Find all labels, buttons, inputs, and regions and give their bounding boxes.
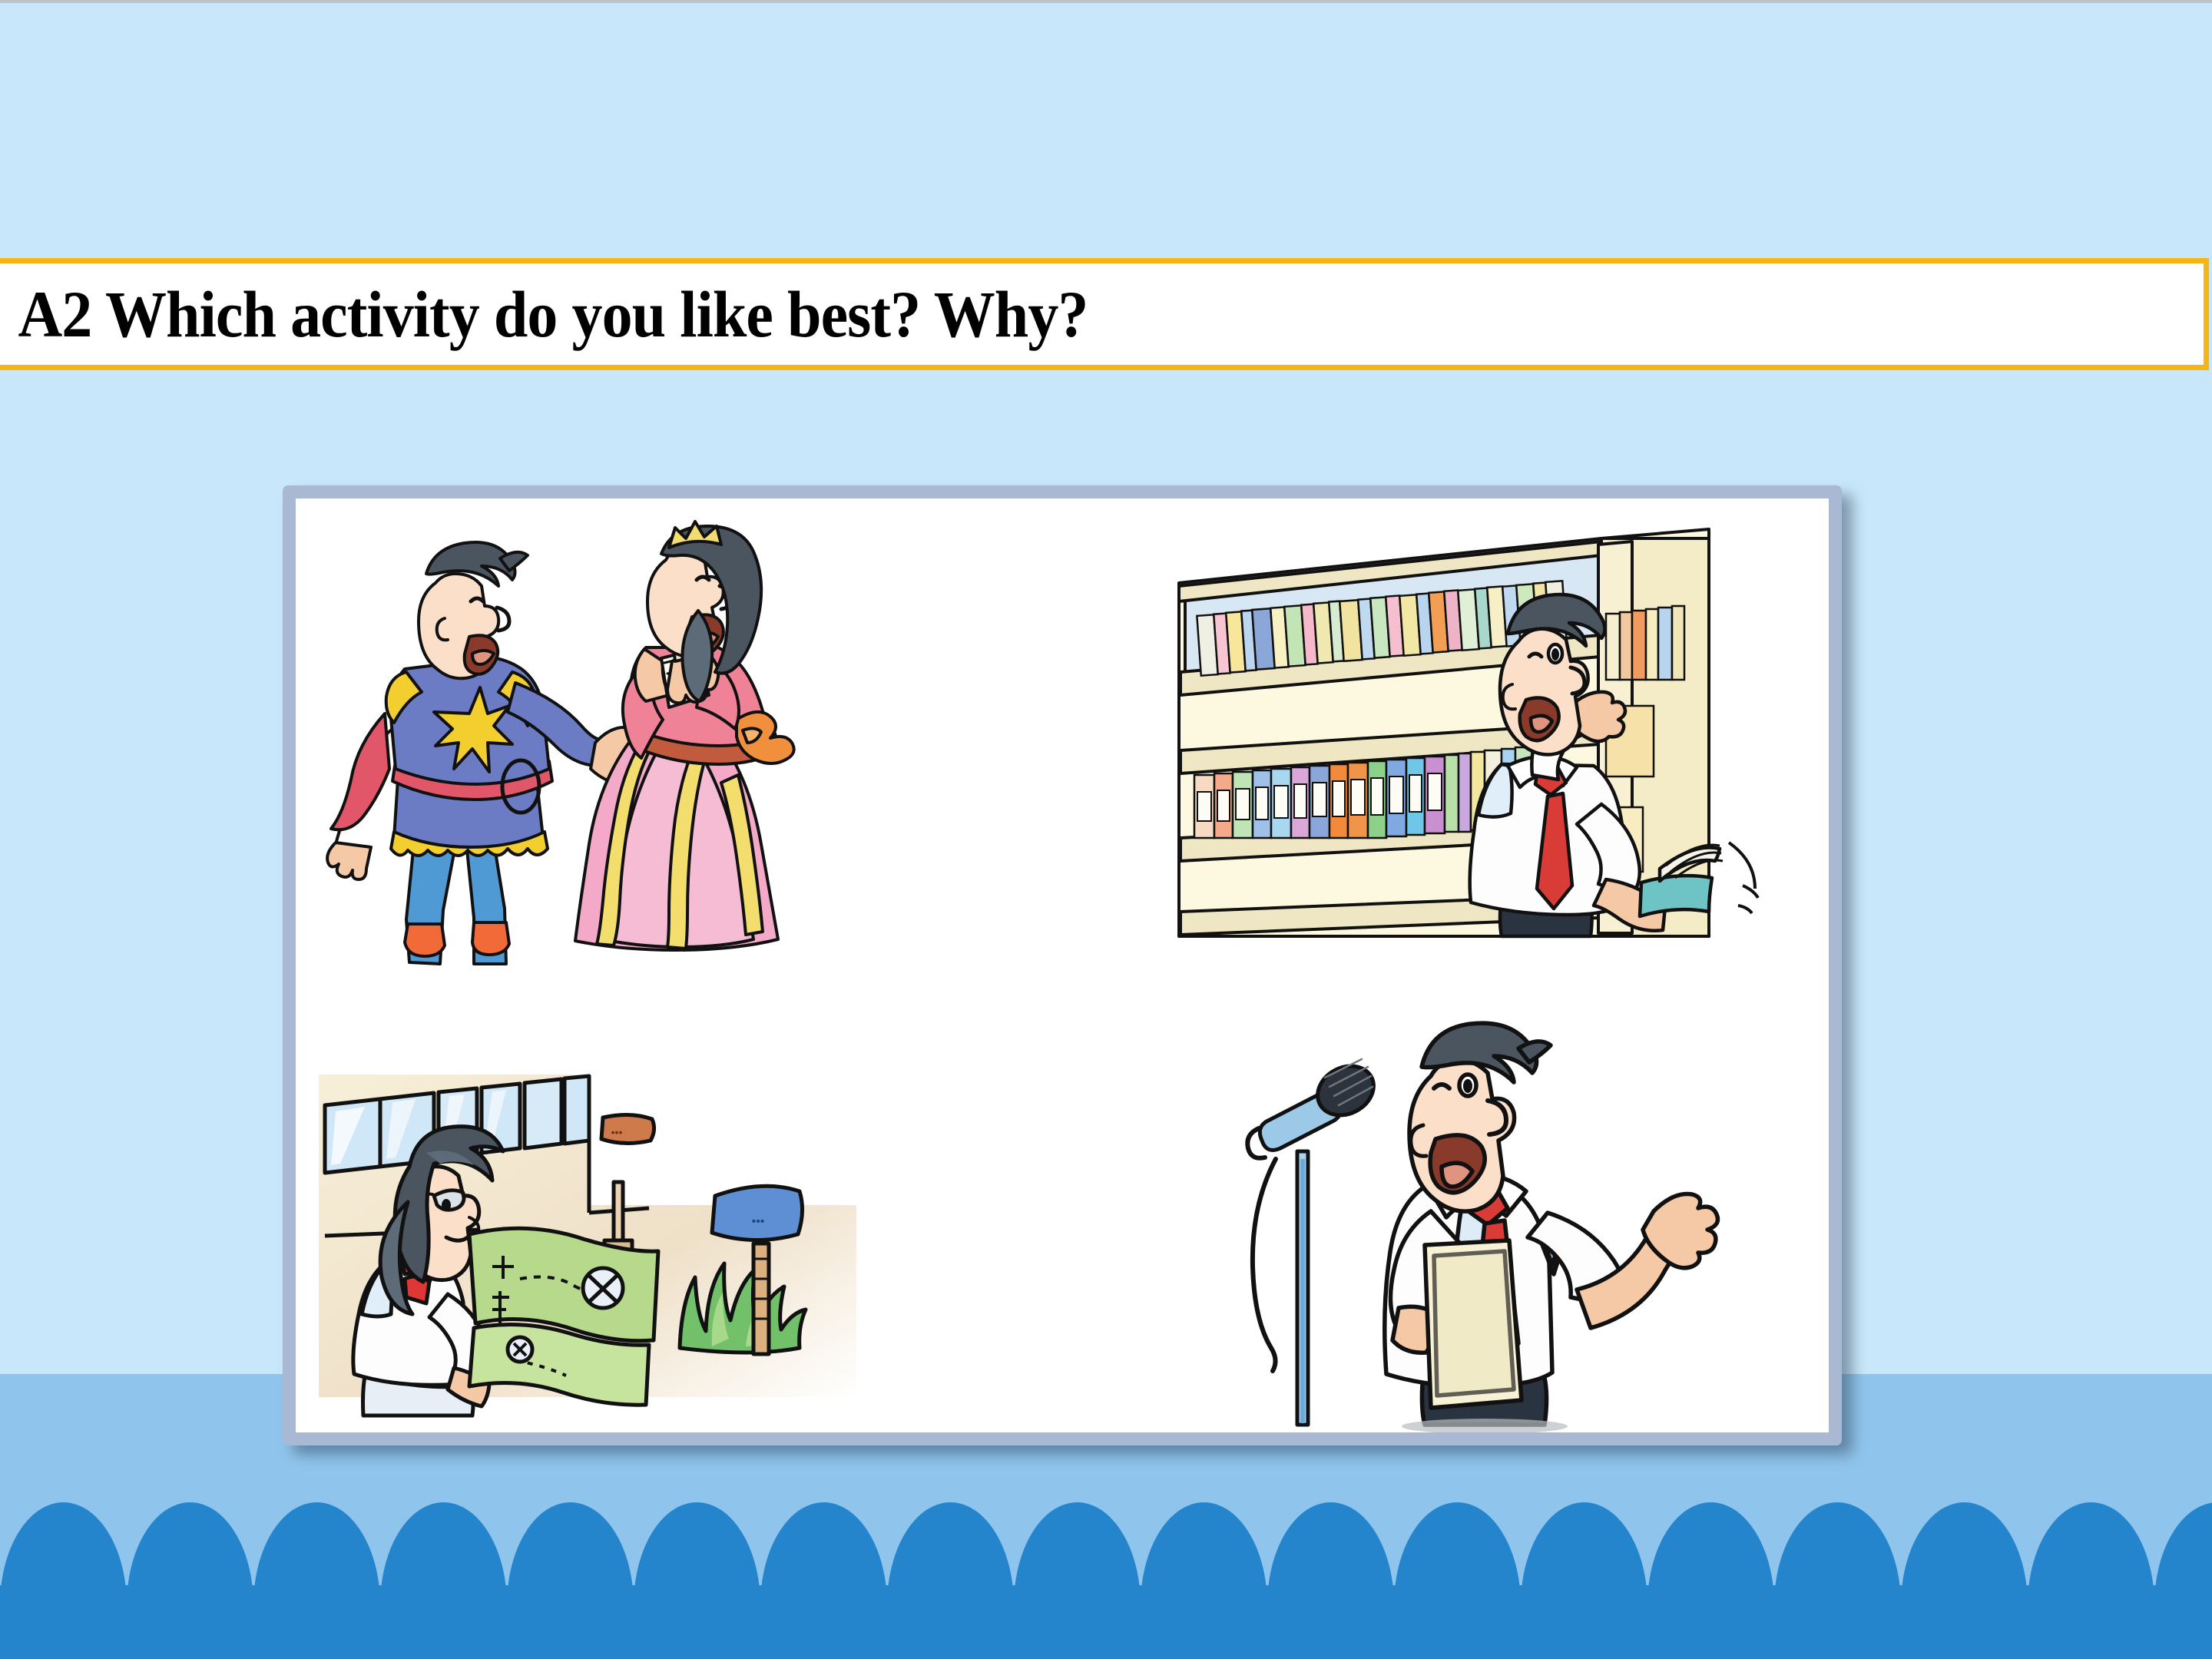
scallop-shape [190, 1585, 317, 1659]
scallop-shape [1838, 1585, 1965, 1659]
picture-frame: ••• ••• [283, 485, 1842, 1445]
scallop-shape [1078, 1585, 1204, 1659]
scallop-shape [1965, 1585, 2091, 1659]
scallop-shape [0, 1585, 64, 1659]
picture-acting-a-play[interactable] [319, 522, 810, 952]
scallop-shape [697, 1585, 824, 1659]
scallop-shape [1711, 1585, 1838, 1659]
slide-root: A2 Which activity do you like best? Why? [0, 0, 2212, 1659]
scallop-shape [64, 1585, 190, 1659]
scallop-shape [444, 1585, 571, 1659]
slide-title-bar: A2 Which activity do you like best? Why? [0, 258, 2209, 370]
scallop-row-lower [0, 1585, 2212, 1659]
scallop-shape [571, 1585, 697, 1659]
scallop-shape [951, 1585, 1078, 1659]
picture-reading-in-library[interactable] [1171, 522, 1778, 952]
scallop-shape [1458, 1585, 1584, 1659]
picture-giving-a-speech[interactable] [1202, 1036, 1755, 1432]
scallop-shape [317, 1585, 444, 1659]
picture-reading-a-map[interactable]: ••• ••• [319, 1067, 856, 1428]
scallop-shape [1204, 1585, 1331, 1659]
page-title: A2 Which activity do you like best? Why? [0, 281, 1088, 347]
svg-text:•••: ••• [611, 1126, 623, 1138]
scallop-shape [1584, 1585, 1711, 1659]
scallop-shape [824, 1585, 951, 1659]
scallop-shape [1331, 1585, 1458, 1659]
svg-text:•••: ••• [752, 1215, 765, 1228]
picture-canvas: ••• ••• [296, 498, 1829, 1432]
scallop-shape [2091, 1585, 2212, 1659]
